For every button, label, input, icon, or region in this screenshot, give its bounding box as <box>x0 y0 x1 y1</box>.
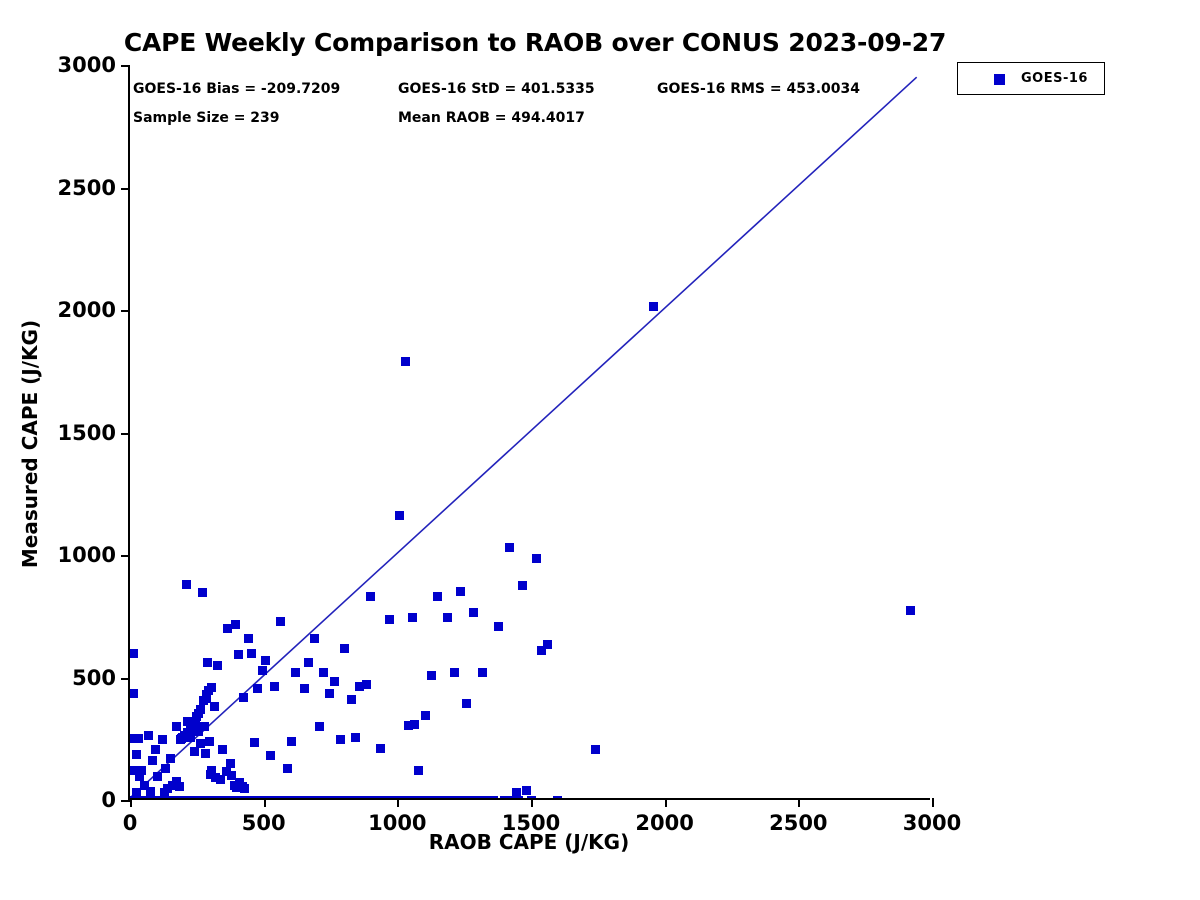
data-point <box>218 745 227 754</box>
data-point <box>244 634 253 643</box>
data-point <box>427 671 436 680</box>
data-point <box>203 658 212 667</box>
data-point <box>385 615 394 624</box>
x-tick <box>531 798 533 807</box>
data-point <box>522 786 531 795</box>
legend-label-goes16: GOES-16 <box>1021 71 1088 86</box>
data-point <box>330 677 339 686</box>
data-point <box>462 699 471 708</box>
data-point <box>196 705 205 714</box>
data-point <box>351 733 360 742</box>
legend-marker-goes16 <box>994 74 1005 85</box>
y-tick-label: 0 <box>101 788 116 812</box>
data-point <box>239 693 248 702</box>
data-point <box>469 608 478 617</box>
data-point <box>270 682 279 691</box>
data-point <box>315 722 324 731</box>
data-point <box>202 694 211 703</box>
data-point <box>433 592 442 601</box>
data-point <box>553 796 562 799</box>
data-point <box>410 720 419 729</box>
data-point <box>505 543 514 552</box>
data-point <box>130 689 138 698</box>
data-point <box>207 683 216 692</box>
data-point <box>205 737 214 746</box>
data-point <box>196 739 205 748</box>
data-point <box>500 796 509 799</box>
data-point <box>253 684 262 693</box>
data-point <box>347 695 356 704</box>
y-axis-title: Measured CAPE (J/KG) <box>18 184 42 704</box>
y-tick <box>121 65 130 67</box>
data-point <box>340 644 349 653</box>
data-point <box>258 666 267 675</box>
x-tick <box>264 798 266 807</box>
data-point <box>161 764 170 773</box>
data-point <box>362 680 371 689</box>
y-tick-label: 3000 <box>58 53 116 77</box>
y-tick-label: 2000 <box>58 298 116 322</box>
data-point <box>649 302 658 311</box>
data-point <box>366 592 375 601</box>
data-point <box>201 749 210 758</box>
y-tick-label: 2500 <box>58 176 116 200</box>
data-point <box>200 722 209 731</box>
data-point <box>421 711 430 720</box>
data-point <box>166 754 175 763</box>
data-point <box>250 738 259 747</box>
data-point <box>130 649 138 658</box>
data-point <box>210 702 219 711</box>
y-tick-label: 500 <box>72 666 116 690</box>
data-point <box>443 613 452 622</box>
data-point <box>182 580 191 589</box>
data-point <box>137 766 146 775</box>
data-point <box>336 735 345 744</box>
data-point <box>906 606 915 615</box>
data-point <box>591 745 600 754</box>
data-point <box>134 734 143 743</box>
y-tick-label: 1000 <box>58 543 116 567</box>
data-point <box>478 668 487 677</box>
data-point <box>518 581 527 590</box>
data-point <box>148 756 157 765</box>
plot-frame: 0500100015002000250030000500100015002000… <box>128 65 930 800</box>
data-point <box>261 656 270 665</box>
data-point <box>514 796 523 799</box>
data-point <box>158 735 167 744</box>
data-point <box>151 745 160 754</box>
y-tick <box>121 433 130 435</box>
data-point <box>175 782 184 791</box>
data-point <box>231 620 240 629</box>
data-point <box>450 668 459 677</box>
data-point <box>247 796 256 799</box>
data-point <box>414 766 423 775</box>
y-tick <box>121 678 130 680</box>
data-point <box>144 731 153 740</box>
data-point <box>543 640 552 649</box>
chart-root: CAPE Weekly Comparison to RAOB over CONU… <box>0 0 1200 900</box>
data-point <box>325 689 334 698</box>
data-point <box>132 750 141 759</box>
data-point <box>401 357 410 366</box>
x-tick <box>130 798 132 807</box>
data-point <box>291 668 300 677</box>
y-tick <box>121 188 130 190</box>
data-point <box>408 613 417 622</box>
legend: GOES-16 <box>957 62 1105 95</box>
data-point <box>489 796 498 799</box>
page-title: CAPE Weekly Comparison to RAOB over CONU… <box>0 28 1070 57</box>
data-point <box>276 617 285 626</box>
data-point <box>213 661 222 670</box>
data-point <box>304 658 313 667</box>
data-point <box>319 668 328 677</box>
one-to-one-reference-line <box>130 65 930 798</box>
data-point <box>266 751 275 760</box>
y-tick-label: 1500 <box>58 421 116 445</box>
data-point <box>283 764 292 773</box>
data-point <box>153 772 162 781</box>
x-tick <box>798 798 800 807</box>
data-point <box>532 554 541 563</box>
data-point <box>310 634 319 643</box>
x-tick <box>665 798 667 807</box>
data-point <box>376 744 385 753</box>
x-axis-title: RAOB CAPE (J/KG) <box>128 830 930 854</box>
data-point <box>186 726 195 735</box>
data-point <box>198 588 207 597</box>
data-point <box>234 650 243 659</box>
data-point <box>247 649 256 658</box>
y-tick <box>121 800 130 802</box>
data-point <box>494 622 503 631</box>
data-point <box>456 587 465 596</box>
data-point <box>240 784 249 793</box>
plot-area <box>130 65 930 798</box>
data-point <box>300 684 309 693</box>
data-point <box>287 737 296 746</box>
x-tick <box>932 798 934 807</box>
data-point <box>395 511 404 520</box>
y-tick <box>121 555 130 557</box>
x-tick <box>397 798 399 807</box>
y-tick <box>121 310 130 312</box>
